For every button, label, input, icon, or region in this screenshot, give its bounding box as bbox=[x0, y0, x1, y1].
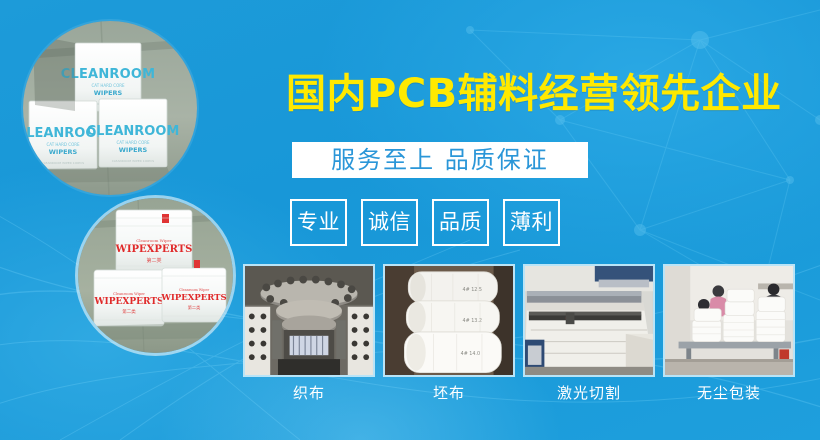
svg-text:CLEANROOM: CLEANROOM bbox=[87, 124, 180, 139]
feature-tag-label: 品质 bbox=[439, 212, 482, 233]
svg-text:第二类: 第二类 bbox=[188, 304, 201, 311]
svg-text:WIPERS: WIPERS bbox=[119, 146, 148, 154]
svg-text:第二类: 第二类 bbox=[122, 308, 136, 315]
greige-fabric-rolls-photo: 4# 12.5 4# 13.2 4# 14.0 bbox=[385, 266, 513, 376]
feature-tag-label: 薄利 bbox=[510, 212, 553, 233]
thumbnail-frame bbox=[663, 264, 795, 377]
svg-text:第二类: 第二类 bbox=[146, 257, 161, 264]
feature-tag-label: 诚信 bbox=[368, 212, 411, 233]
cleanroom-packaging-workers-photo bbox=[665, 266, 793, 376]
thumbnail-caption: 无尘包装 bbox=[663, 386, 795, 401]
svg-text:CAT HARD CORE: CAT HARD CORE bbox=[116, 140, 150, 145]
circular-knitting-machine-photo bbox=[245, 266, 373, 376]
feature-tag-list: 专业 诚信 品质 薄利 bbox=[290, 199, 560, 246]
svg-text:Cleanroom Wiper: Cleanroom Wiper bbox=[179, 288, 210, 292]
svg-text:Cleanroom Wiper: Cleanroom Wiper bbox=[136, 238, 172, 243]
thumbnail-caption: 激光切割 bbox=[523, 386, 655, 401]
product-circle-cleanroom: CLEANROOM CAT HARD CORE WIPERS CLEANROOM… bbox=[23, 21, 197, 195]
banner-headline: 国内PCB辅料经营领先企业 bbox=[286, 74, 782, 114]
feature-tag-low-margin[interactable]: 薄利 bbox=[503, 199, 560, 246]
svg-text:Cleanroom Wiper: Cleanroom Wiper bbox=[113, 292, 145, 296]
thumbnail-frame bbox=[523, 264, 655, 377]
thumbnail-frame bbox=[243, 264, 375, 377]
laser-cutting-table-photo bbox=[525, 266, 653, 376]
thumbnail-caption: 坯布 bbox=[383, 386, 515, 401]
feature-tag-integrity[interactable]: 诚信 bbox=[361, 199, 418, 246]
thumbnail-frame: 4# 12.5 4# 13.2 4# 14.0 bbox=[383, 264, 515, 377]
process-thumbnail-weaving[interactable]: 织布 bbox=[243, 264, 375, 401]
process-thumbnail-greige-fabric[interactable]: 4# 12.5 4# 13.2 4# 14.0 bbox=[383, 264, 515, 401]
svg-text:WIPEXPERTS: WIPEXPERTS bbox=[93, 297, 163, 307]
thumbnail-caption: 织布 bbox=[243, 386, 375, 401]
feature-tag-professional[interactable]: 专业 bbox=[290, 199, 347, 246]
wipexperts-packs-photo: Cleanroom Wiper WIPEXPERTS 第二类 Cleanroom… bbox=[78, 198, 233, 353]
svg-text:WIPERS: WIPERS bbox=[49, 148, 78, 156]
process-thumbnail-list: 织布 4# 12.5 bbox=[243, 264, 795, 401]
svg-text:4# 13.2: 4# 13.2 bbox=[463, 318, 482, 324]
svg-text:WIPEXPERTS: WIPEXPERTS bbox=[115, 244, 193, 255]
cleanroom-wipers-packs-photo: CLEANROOM CAT HARD CORE WIPERS CLEANROOM… bbox=[23, 21, 197, 195]
promo-banner: CLEANROOM CAT HARD CORE WIPERS CLEANROOM… bbox=[0, 0, 820, 440]
svg-text:CLEANROOM WIPER 100PCS: CLEANROOM WIPER 100PCS bbox=[112, 159, 155, 163]
svg-text:CAT HARD CORE: CAT HARD CORE bbox=[91, 83, 125, 88]
svg-text:WIPERS: WIPERS bbox=[94, 89, 123, 97]
banner-subtitle-text: 服务至上 品质保证 bbox=[331, 148, 549, 172]
svg-text:CAT HARD CORE: CAT HARD CORE bbox=[46, 142, 80, 147]
svg-text:4# 12.5: 4# 12.5 bbox=[463, 287, 482, 293]
svg-text:WIPEXPERTS: WIPEXPERTS bbox=[160, 293, 226, 303]
process-thumbnail-laser-cutting[interactable]: 激光切割 bbox=[523, 264, 655, 401]
feature-tag-quality[interactable]: 品质 bbox=[432, 199, 489, 246]
product-circle-wipexperts: Cleanroom Wiper WIPEXPERTS 第二类 Cleanroom… bbox=[78, 198, 233, 353]
svg-text:CLEANROOM WIPER 100PCS: CLEANROOM WIPER 100PCS bbox=[42, 161, 85, 165]
process-thumbnail-cleanroom-packaging[interactable]: 无尘包装 bbox=[663, 264, 795, 401]
feature-tag-label: 专业 bbox=[297, 212, 340, 233]
banner-subtitle-box: 服务至上 品质保证 bbox=[292, 142, 588, 178]
svg-text:4# 14.0: 4# 14.0 bbox=[461, 351, 480, 357]
